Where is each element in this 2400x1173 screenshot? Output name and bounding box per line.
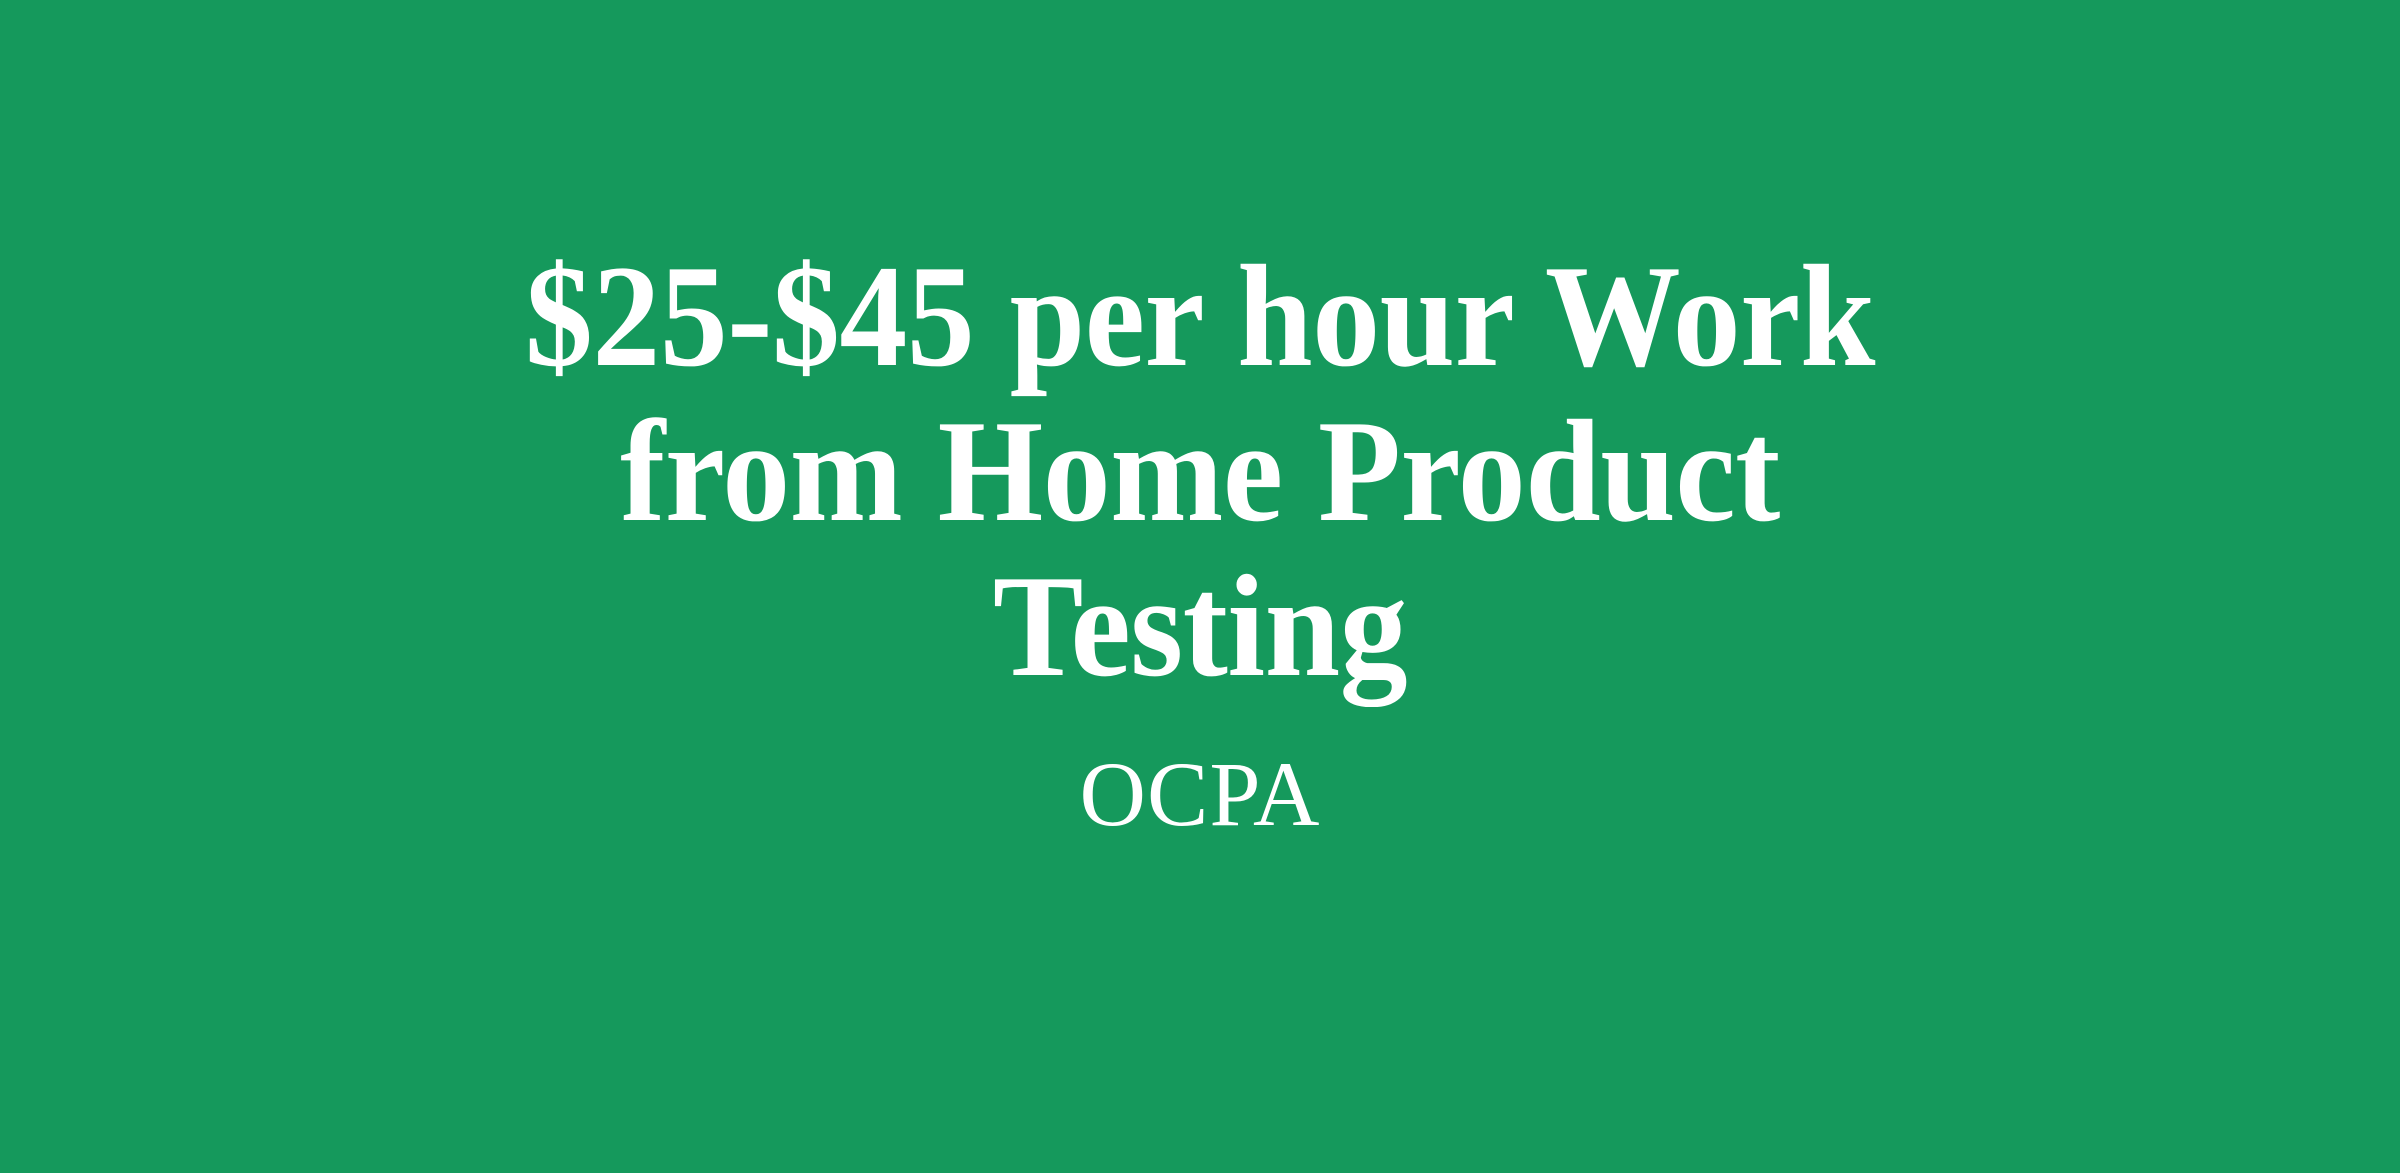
card-text-stack: $25-$45 per hour Work from Home Product … <box>320 239 2080 842</box>
card-headline: $25-$45 per hour Work from Home Product … <box>410 239 1991 704</box>
card-subtitle: OCPA <box>1080 746 1321 842</box>
social-share-card: $25-$45 per hour Work from Home Product … <box>0 0 2400 1173</box>
